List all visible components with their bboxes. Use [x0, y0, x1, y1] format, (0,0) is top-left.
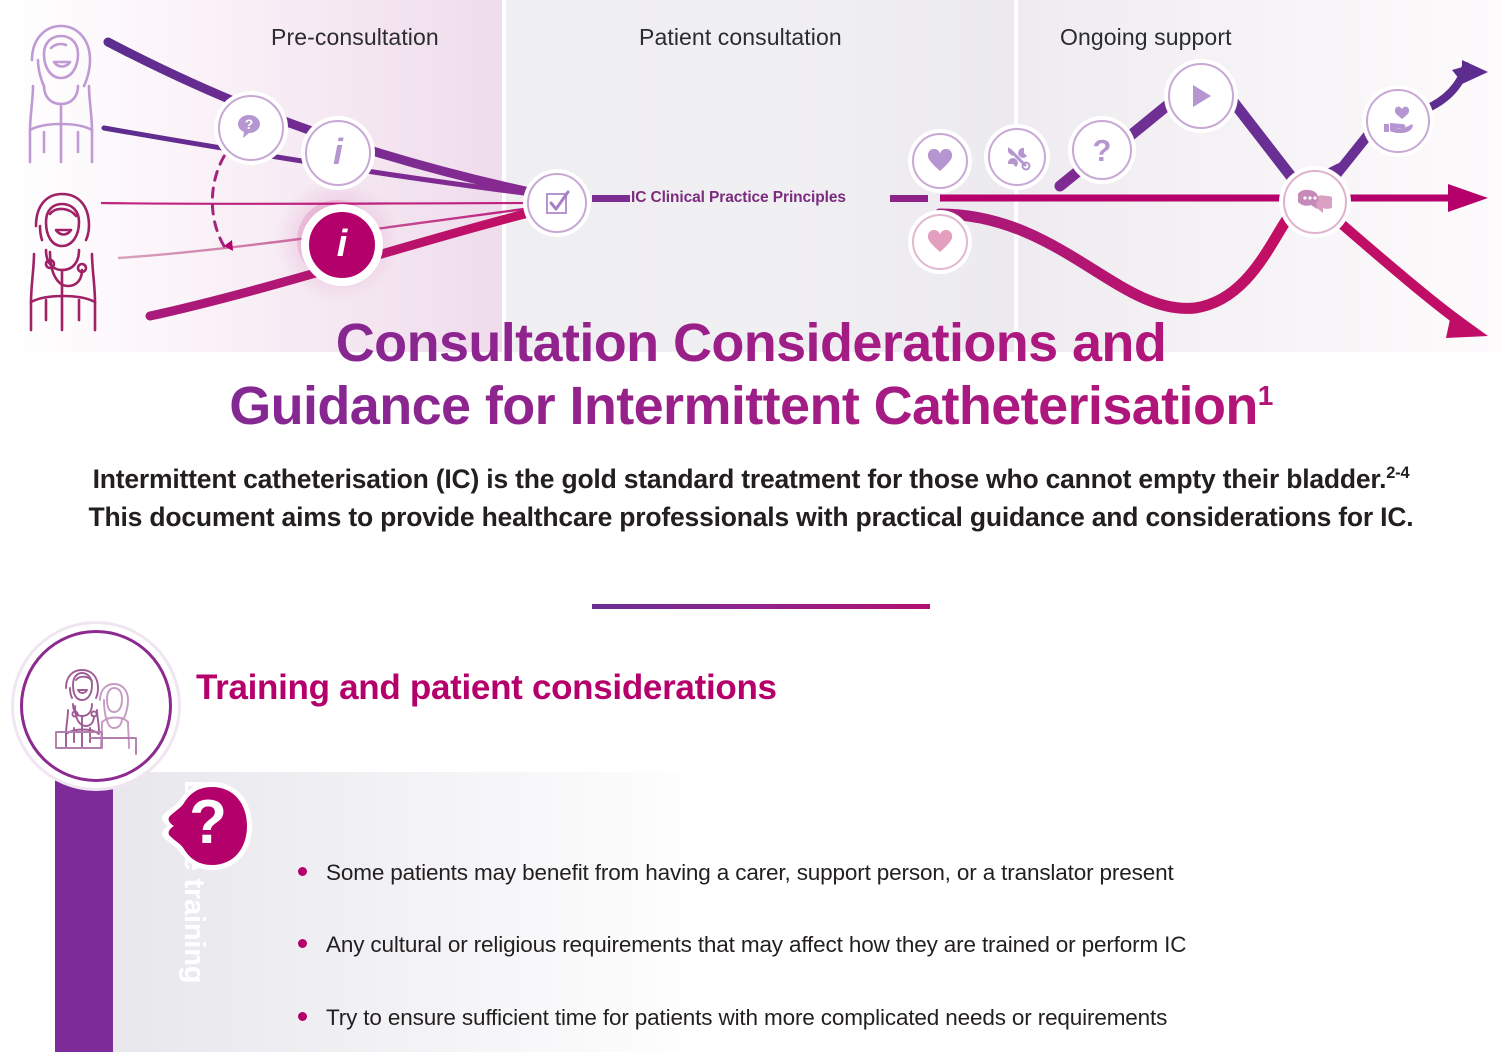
- section-divider: [592, 604, 930, 609]
- chat-bubbles-glyph: [1298, 188, 1332, 216]
- list-item: Try to ensure sufficient time for patien…: [288, 1003, 1478, 1032]
- page-subtitle: Intermittent catheterisation (IC) is the…: [70, 460, 1432, 537]
- information-highlight-glyph: i: [337, 225, 348, 266]
- subtitle-part2: This document aims to provide healthcare…: [89, 502, 1414, 532]
- heart-pink-glyph: [927, 230, 953, 254]
- list-item-text: Some patients may benefit from having a …: [326, 860, 1174, 885]
- information-highlight-icon[interactable]: i: [305, 208, 379, 282]
- hand-heart-glyph: [1381, 106, 1415, 136]
- tools-glyph: [1002, 142, 1032, 172]
- information-icon[interactable]: i: [305, 120, 371, 186]
- infographic-page: Pre-consultation Patient consultation On…: [0, 0, 1502, 1052]
- bullet-dot: [298, 867, 307, 876]
- journey-paths: [0, 0, 1502, 352]
- patient-figure-icon: [30, 26, 92, 162]
- side-tab-before-training: Before training: [55, 780, 113, 1052]
- question-bubble-glyph: ?: [234, 111, 268, 145]
- considerations-list: Some patients may benefit from having a …: [288, 858, 1478, 1052]
- question-bubble-icon[interactable]: ?: [218, 95, 284, 161]
- checklist-glyph: [542, 188, 572, 218]
- heart-pink-icon[interactable]: [912, 214, 968, 270]
- list-item: Any cultural or religious requirements t…: [288, 930, 1478, 959]
- subtitle-superscript: 2-4: [1386, 464, 1409, 482]
- play-video-icon[interactable]: [1168, 63, 1234, 129]
- page-title-superscript: 1: [1258, 380, 1273, 411]
- page-title-line2: Guidance for Intermittent Catheterisatio…: [229, 376, 1258, 436]
- checklist-icon[interactable]: [527, 173, 587, 233]
- question-badge-glyph: ?: [160, 778, 256, 874]
- question-glyph: ?: [1093, 135, 1112, 166]
- information-glyph: i: [333, 134, 343, 173]
- list-item-text: Any cultural or religious requirements t…: [326, 932, 1186, 957]
- heart-purple-icon[interactable]: [912, 133, 968, 189]
- list-item: Some patients may benefit from having a …: [288, 858, 1478, 887]
- list-item-text: Try to ensure sufficient time for patien…: [326, 1005, 1167, 1030]
- section-title: Training and patient considerations: [196, 668, 777, 708]
- play-glyph: [1188, 82, 1214, 110]
- clinician-figure-icon: [31, 194, 95, 330]
- ic-principles-label: IC Clinical Practice Principles: [631, 189, 846, 207]
- patient-journey-diagram: Pre-consultation Patient consultation On…: [0, 0, 1502, 352]
- bullet-dot: [298, 939, 307, 948]
- page-title-line1: Consultation Considerations and: [336, 313, 1166, 373]
- question-icon[interactable]: ?: [1072, 120, 1132, 180]
- svg-text:?: ?: [245, 116, 254, 132]
- heart-purple-glyph: [927, 149, 953, 173]
- consultation-people-glyph: [44, 654, 148, 758]
- hand-heart-support-icon[interactable]: [1366, 89, 1430, 153]
- consultation-people-icon: [20, 630, 172, 782]
- bullet-dot: [298, 1012, 307, 1021]
- tools-icon[interactable]: [988, 128, 1046, 186]
- page-title: Consultation Considerations and Guidance…: [0, 312, 1502, 438]
- subtitle-part1: Intermittent catheterisation (IC) is the…: [93, 464, 1387, 494]
- chat-bubbles-icon[interactable]: [1283, 170, 1347, 234]
- question-badge: ?: [160, 778, 256, 874]
